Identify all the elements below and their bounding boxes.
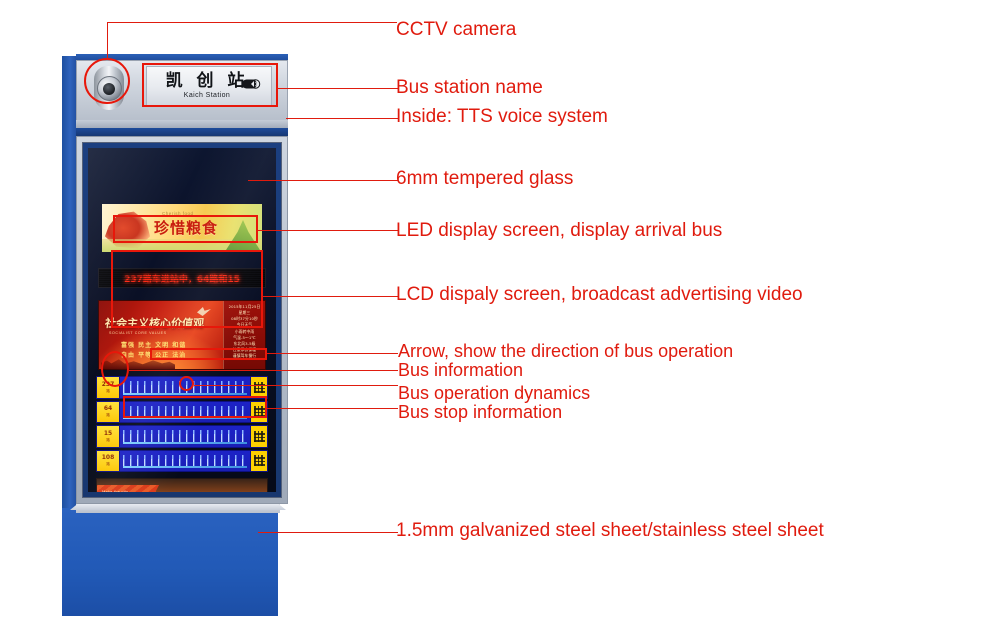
highlight-bus-information <box>101 351 129 387</box>
bottom-poster-en-line1: Make the city <box>102 489 129 492</box>
highlight-cctv-camera <box>84 58 130 104</box>
highlight-arrow-direction <box>150 348 267 360</box>
leader-bus-stop-information <box>267 408 398 409</box>
route-number-suffix: 路 <box>106 462 110 466</box>
route-number: 108 <box>102 455 115 461</box>
leader-bus-operation-dynamics <box>194 385 398 386</box>
bus-route-row: 15 路 <box>96 425 268 448</box>
annotation-tts-voice-system: Inside: TTS voice system <box>396 106 608 128</box>
annotation-cctv-camera: CCTV camera <box>396 19 516 41</box>
leader-tts <box>286 118 398 119</box>
lcd-info-line: 小雨转中雨 <box>235 329 254 334</box>
route-number-suffix: 路 <box>106 413 110 417</box>
leader-station-name <box>278 88 398 89</box>
leader-led-screen <box>258 230 398 231</box>
kiosk-base-panel <box>62 508 278 616</box>
bus-route-board: 237 路 64 路 <box>96 376 268 472</box>
highlight-bus-stop-information <box>123 396 267 418</box>
route-number: 64 <box>104 406 112 412</box>
annotation-lcd-display-screen: LCD dispaly screen, broadcast advertisin… <box>396 284 803 306</box>
leader-bus-information <box>129 370 398 371</box>
highlight-bus-operation-dynamics <box>179 376 194 391</box>
route-qr-cell <box>250 377 267 398</box>
route-direction-line <box>123 442 247 444</box>
route-stop-sequence <box>120 451 250 472</box>
qr-code-icon <box>254 431 265 442</box>
leader-steel-sheet <box>258 532 398 533</box>
qr-code-icon <box>254 382 265 393</box>
route-number: 15 <box>104 431 112 437</box>
diagram-canvas: 凯 创 站 Kaich Station Cherish food 珍惜粮食 <box>0 0 1000 640</box>
route-number-suffix: 路 <box>106 389 110 393</box>
route-qr-cell <box>250 451 267 472</box>
leader-cctv <box>107 22 397 23</box>
bottom-poster-en: Make the city a better place <box>102 489 129 492</box>
highlight-station-sign <box>142 63 278 107</box>
bottom-poster: Make the city a better place 让城市更美好! <box>96 478 268 492</box>
route-number-badge: 15 路 <box>97 426 120 447</box>
annotation-tempered-glass: 6mm tempered glass <box>396 168 573 190</box>
annotation-bus-information: Bus information <box>398 360 523 381</box>
lcd-info-line: 气温-5～1℃ <box>233 335 256 340</box>
leader-lcd-screen <box>263 296 398 297</box>
highlight-lcd-screen <box>111 250 263 328</box>
leader-cctv-vertical <box>107 22 108 60</box>
lcd-subtitle-en: SOCIALIST CORE VALUES <box>109 331 167 335</box>
bus-route-row: 108 路 <box>96 450 268 473</box>
leader-arrow <box>267 353 398 354</box>
route-direction-line <box>123 466 247 468</box>
annotation-steel-sheet: 1.5mm galvanized steel sheet/stainless s… <box>396 520 824 542</box>
route-direction-line <box>123 393 247 395</box>
annotation-bus-stop-information: Bus stop information <box>398 402 562 423</box>
route-stop-sequence <box>120 426 250 447</box>
qr-code-icon <box>254 455 265 466</box>
annotation-bus-station-name: Bus station name <box>396 77 543 99</box>
annotation-led-display-screen: LED display screen, display arrival bus <box>396 220 722 242</box>
leader-tempered-glass <box>248 180 398 181</box>
highlight-led-screen <box>113 215 258 243</box>
lcd-info-line: 东北风3-5级 <box>233 341 255 346</box>
route-number-badge: 108 路 <box>97 451 120 472</box>
route-qr-cell <box>250 426 267 447</box>
route-number-badge: 64 路 <box>97 402 120 423</box>
route-number-suffix: 路 <box>106 438 110 442</box>
